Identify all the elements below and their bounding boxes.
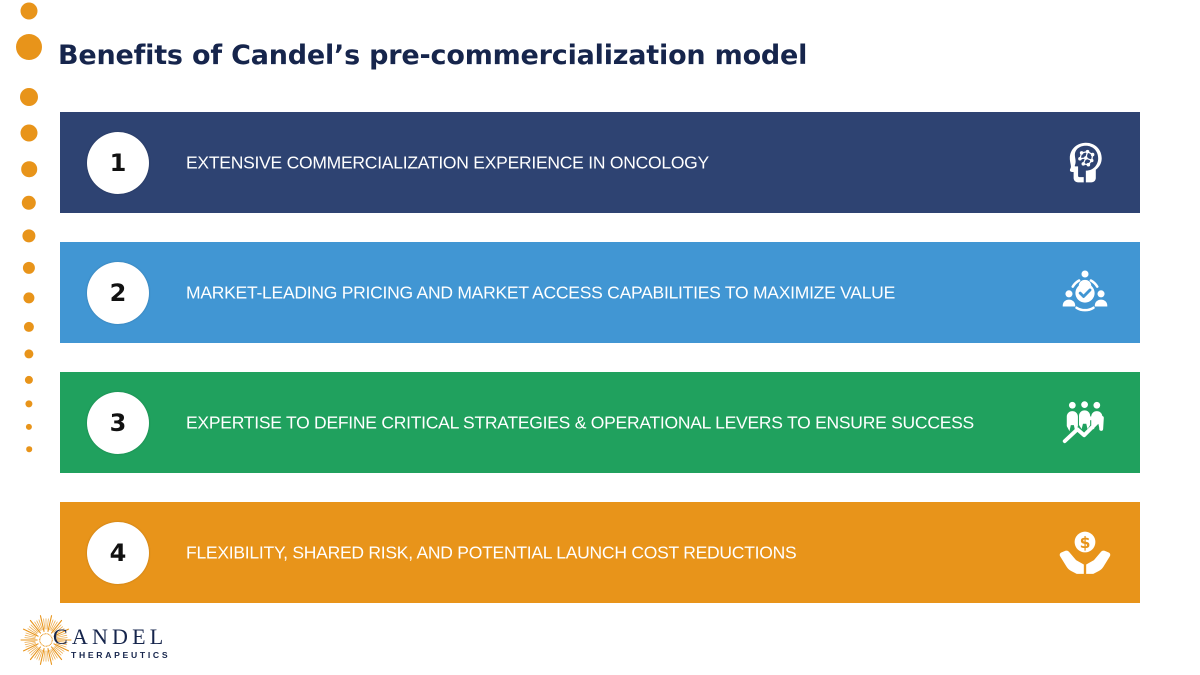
benefit-bar[interactable]: 3EXPERTISE TO DEFINE CRITICAL STRATEGIES… — [60, 372, 1140, 473]
decorative-dot-column — [0, 0, 60, 675]
svg-text:$: $ — [1080, 534, 1091, 552]
decorative-dot — [24, 322, 34, 332]
benefit-bar[interactable]: 4FLEXIBILITY, SHARED RISK, AND POTENTIAL… — [60, 502, 1140, 603]
benefit-label: EXTENSIVE COMMERCIALIZATION EXPERIENCE I… — [186, 152, 709, 173]
benefit-bar[interactable]: 1EXTENSIVE COMMERCIALIZATION EXPERIENCE … — [60, 112, 1140, 213]
head-brain-icon — [1058, 136, 1112, 190]
benefit-bar[interactable]: 2MARKET-LEADING PRICING AND MARKET ACCES… — [60, 242, 1140, 343]
benefit-number-badge: 2 — [87, 262, 149, 324]
people-growth-chart-icon — [1058, 396, 1112, 450]
benefit-label: EXPERTISE TO DEFINE CRITICAL STRATEGIES … — [186, 412, 974, 433]
page-title: Benefits of Candel’s pre-commercializati… — [58, 40, 807, 71]
decorative-dot — [23, 292, 34, 303]
benefit-number-badge: 1 — [87, 132, 149, 194]
decorative-dot — [26, 424, 32, 430]
decorative-dot — [21, 161, 37, 177]
decorative-dot — [22, 196, 36, 210]
decorative-dot — [20, 88, 38, 106]
benefit-number-badge: 3 — [87, 392, 149, 454]
benefit-label: MARKET-LEADING PRICING AND MARKET ACCESS… — [186, 282, 895, 303]
decorative-dot — [22, 229, 35, 242]
candel-therapeutics-logo: CANDEL THERAPEUTICS — [20, 612, 165, 668]
logo-subtitle: THERAPEUTICS — [71, 650, 170, 660]
decorative-dot — [21, 3, 38, 20]
logo-wordmark: CANDEL — [53, 624, 167, 650]
decorative-dot — [25, 376, 33, 384]
benefits-list: 1EXTENSIVE COMMERCIALIZATION EXPERIENCE … — [60, 112, 1140, 632]
benefit-label: FLEXIBILITY, SHARED RISK, AND POTENTIAL … — [186, 542, 796, 563]
hands-holding-money-icon: $ — [1058, 526, 1112, 580]
decorative-dot — [24, 349, 33, 358]
decorative-dot — [23, 262, 35, 274]
decorative-dot — [16, 34, 42, 60]
decorative-dot — [21, 125, 38, 142]
people-check-network-icon — [1058, 266, 1112, 320]
decorative-dot — [25, 400, 32, 407]
benefit-number-badge: 4 — [87, 522, 149, 584]
decorative-dot — [26, 446, 32, 452]
